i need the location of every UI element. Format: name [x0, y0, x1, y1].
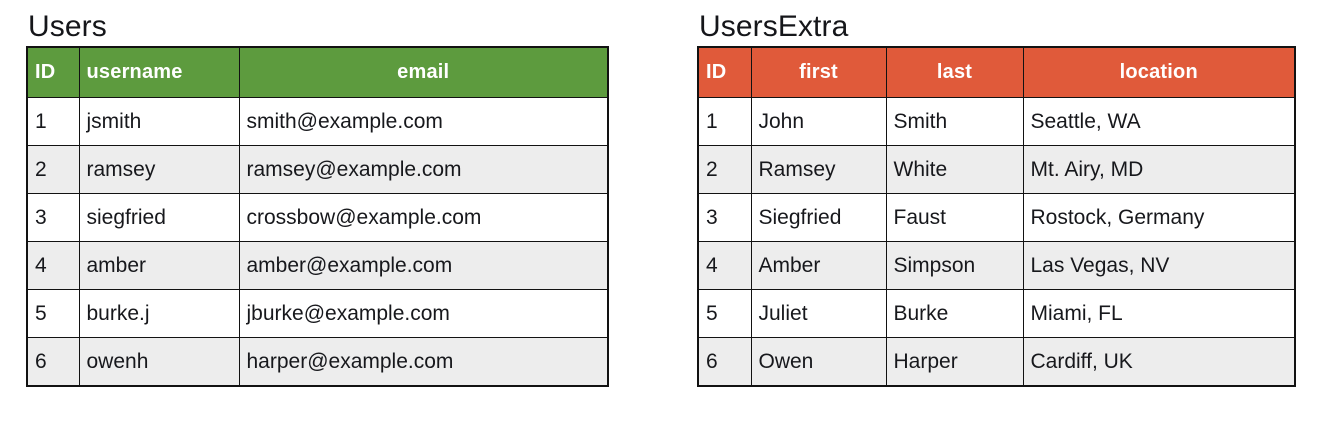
cell-email: jburke@example.com	[239, 290, 608, 338]
table-row[interactable]: 4 amber amber@example.com	[27, 242, 608, 290]
cell-location: Rostock, Germany	[1023, 194, 1295, 242]
cell-id: 3	[27, 194, 79, 242]
cell-first: Juliet	[751, 290, 886, 338]
cell-id: 2	[698, 146, 751, 194]
table-row[interactable]: 3 Siegfried Faust Rostock, Germany	[698, 194, 1295, 242]
usersextra-table-body: 1 John Smith Seattle, WA 2 Ramsey White …	[698, 98, 1295, 387]
cell-id: 6	[27, 338, 79, 387]
cell-id: 3	[698, 194, 751, 242]
table-row[interactable]: 6 owenh harper@example.com	[27, 338, 608, 387]
cell-id: 4	[27, 242, 79, 290]
users-table-block: Users ID username email 1 jsmith smith@e…	[26, 0, 607, 387]
users-table: ID username email 1 jsmith smith@example…	[26, 46, 609, 387]
cell-first: John	[751, 98, 886, 146]
cell-email: amber@example.com	[239, 242, 608, 290]
table-header-row: ID first last location	[698, 47, 1295, 98]
table-row[interactable]: 5 Juliet Burke Miami, FL	[698, 290, 1295, 338]
table-row[interactable]: 2 Ramsey White Mt. Airy, MD	[698, 146, 1295, 194]
column-header-username[interactable]: username	[79, 47, 239, 98]
cell-username: burke.j	[79, 290, 239, 338]
cell-username: amber	[79, 242, 239, 290]
cell-location: Las Vegas, NV	[1023, 242, 1295, 290]
cell-username: owenh	[79, 338, 239, 387]
usersextra-table-head: ID first last location	[698, 47, 1295, 98]
cell-id: 4	[698, 242, 751, 290]
cell-first: Amber	[751, 242, 886, 290]
cell-last: Simpson	[886, 242, 1023, 290]
column-header-email[interactable]: email	[239, 47, 608, 98]
table-row[interactable]: 1 John Smith Seattle, WA	[698, 98, 1295, 146]
cell-last: Harper	[886, 338, 1023, 387]
column-header-last[interactable]: last	[886, 47, 1023, 98]
cell-location: Cardiff, UK	[1023, 338, 1295, 387]
cell-username: jsmith	[79, 98, 239, 146]
cell-email: harper@example.com	[239, 338, 608, 387]
table-row[interactable]: 5 burke.j jburke@example.com	[27, 290, 608, 338]
cell-email: smith@example.com	[239, 98, 608, 146]
page-canvas: Users ID username email 1 jsmith smith@e…	[0, 0, 1319, 448]
column-header-location[interactable]: location	[1023, 47, 1295, 98]
cell-username: ramsey	[79, 146, 239, 194]
cell-last: Faust	[886, 194, 1023, 242]
usersextra-table-block: UsersExtra ID first last location 1 John…	[697, 0, 1294, 387]
table-row[interactable]: 2 ramsey ramsey@example.com	[27, 146, 608, 194]
cell-username: siegfried	[79, 194, 239, 242]
table-row[interactable]: 3 siegfried crossbow@example.com	[27, 194, 608, 242]
cell-first: Ramsey	[751, 146, 886, 194]
cell-id: 5	[27, 290, 79, 338]
column-header-id[interactable]: ID	[698, 47, 751, 98]
column-header-first[interactable]: first	[751, 47, 886, 98]
table-row[interactable]: 4 Amber Simpson Las Vegas, NV	[698, 242, 1295, 290]
table-row[interactable]: 1 jsmith smith@example.com	[27, 98, 608, 146]
users-table-head: ID username email	[27, 47, 608, 98]
cell-email: ramsey@example.com	[239, 146, 608, 194]
cell-id: 1	[698, 98, 751, 146]
users-table-title: Users	[26, 0, 607, 46]
cell-first: Siegfried	[751, 194, 886, 242]
cell-id: 5	[698, 290, 751, 338]
cell-email: crossbow@example.com	[239, 194, 608, 242]
cell-id: 1	[27, 98, 79, 146]
cell-first: Owen	[751, 338, 886, 387]
users-table-body: 1 jsmith smith@example.com 2 ramsey rams…	[27, 98, 608, 387]
cell-last: Smith	[886, 98, 1023, 146]
cell-last: Burke	[886, 290, 1023, 338]
cell-id: 6	[698, 338, 751, 387]
table-header-row: ID username email	[27, 47, 608, 98]
usersextra-table: ID first last location 1 John Smith Seat…	[697, 46, 1296, 387]
usersextra-table-title: UsersExtra	[697, 0, 1294, 46]
cell-last: White	[886, 146, 1023, 194]
cell-location: Seattle, WA	[1023, 98, 1295, 146]
cell-location: Miami, FL	[1023, 290, 1295, 338]
cell-id: 2	[27, 146, 79, 194]
column-header-id[interactable]: ID	[27, 47, 79, 98]
cell-location: Mt. Airy, MD	[1023, 146, 1295, 194]
table-row[interactable]: 6 Owen Harper Cardiff, UK	[698, 338, 1295, 387]
